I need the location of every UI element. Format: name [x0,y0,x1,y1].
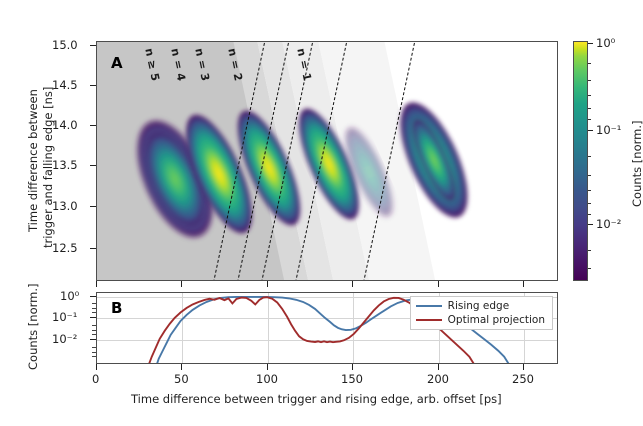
panel-a-ytick-5 [90,248,96,249]
panel-b-ytick-minor-6 [92,334,96,335]
panel-b-ytick-minor-3 [92,312,96,313]
panel-b-ytick-minor-9 [92,356,96,357]
colorbar-tick-minor-12 [588,268,591,269]
panel-b-legend: Rising edge Optimal projection [410,296,553,330]
colorbar-tick-1e-1 [588,130,593,131]
panel-a-ytick-label-13-0: 13.0 [52,199,78,213]
panel-b-xtick-label-50: 50 [174,372,189,386]
panel-b-xtick-150 [352,364,353,370]
legend-item-rising-edge: Rising edge [416,300,545,312]
panel-b-letter: B [111,299,122,317]
colorbar-tick-1e0 [588,43,593,44]
panel-a-ytick-label-13-5: 13.5 [52,158,78,172]
colorbar-tick-minor-6 [588,156,591,157]
panel-b-xtick-label-100: 100 [256,372,278,386]
panel-b-xtick-200 [438,364,439,370]
panel-a-ytick-1 [90,85,96,86]
colorbar-tick-minor-4 [588,108,591,109]
panel-b-xtick-label-250: 250 [512,372,534,386]
panel-a-ytick-4 [90,206,96,207]
panel-a-xtick-0 [96,281,97,287]
panel-a-heatmap [97,42,558,281]
panel-b-ytick-minor-2 [92,308,96,309]
colorbar-tick-minor-11 [588,250,591,251]
colorbar-tick-label-1e-2: 10⁻² [596,217,621,231]
colorbar-tick-minor-5 [588,119,591,120]
colorbar-tick-minor-9 [588,203,591,204]
panel-a-xtick-150 [352,281,353,287]
panel-b-ytick-1e-1 [90,317,96,318]
legend-swatch-optimal-projection [416,319,442,321]
colorbar-tick-1e-2 [588,224,593,225]
panel-b-xtick-label-0: 0 [92,372,99,386]
cluster-n-1 [387,94,481,227]
panel-a-ytick-label-12-5: 12.5 [52,241,78,255]
panel-b-ytick-label-1e-2: 10⁻² [52,332,77,346]
panel-a-ytick-3 [90,165,96,166]
panel-a-plot-area: n ≥ 5 n = 4 n = 3 n = 2 n = 1 A [96,41,558,281]
panel-a-ytick-label-14-0: 14.0 [52,118,78,132]
panel-b-xtick-0 [96,364,97,370]
panel-a-xtick-100 [267,281,268,287]
colorbar-tick-label-1e0: 10⁰ [596,36,615,50]
panel-a-letter: A [111,54,123,72]
panel-a-xtick-200 [438,281,439,287]
panel-a-ytick-0 [90,45,96,46]
legend-swatch-rising-edge [416,305,442,307]
colorbar-tick-minor-10 [588,214,591,215]
panel-b-ytick-1e-2 [90,339,96,340]
panel-a-ytick-2 [90,125,96,126]
panel-b-xtick-label-150: 150 [341,372,363,386]
panel-b-ylabel: Counts [norm.] [26,284,40,370]
panel-a-xtick-50 [181,281,182,287]
panel-b-ytick-minor-5 [92,330,96,331]
panel-b-ytick-minor-7 [92,347,96,348]
colorbar-tick-minor-2 [588,80,591,81]
colorbar-tick-minor-7 [588,175,591,176]
panel-a-ylabel-line2: trigger and falling edge [ns] [41,87,55,248]
panel-b-ytick-label-1e-1: 10⁻¹ [52,310,77,324]
panel-b-ytick-label-1e0: 10⁰ [60,289,79,303]
colorbar-tick-minor-1 [588,63,591,64]
panel-a-ytick-label-15-0: 15.0 [52,38,78,52]
panel-b-xtick-label-200: 200 [427,372,449,386]
legend-label-optimal-projection: Optimal projection [448,314,545,326]
panel-b-xtick-50 [181,364,182,370]
legend-label-rising-edge: Rising edge [448,300,510,312]
panel-a-xtick-250 [523,281,524,287]
panel-b-xtick-250 [523,364,524,370]
legend-item-optimal-projection: Optimal projection [416,314,545,326]
panel-b-ytick-1e0 [90,296,96,297]
panel-b-plot-area: B Rising edge Optimal projection [96,292,558,364]
panel-b-xtick-100 [267,364,268,370]
panel-b-ytick-minor-1 [92,303,96,304]
colorbar-label: Counts [norm.] [630,121,643,207]
colorbar-tick-minor-3 [588,95,591,96]
panel-b-xlabel: Time difference between trigger and risi… [131,392,502,406]
panel-a-ylabel-line1: Time difference between [26,89,40,232]
panel-a-ytick-label-14-5: 14.5 [52,78,78,92]
figure-root: n ≥ 5 n = 4 n = 3 n = 2 n = 1 A 15.0 14.… [0,0,643,426]
panel-b-ytick-minor-4 [92,325,96,326]
colorbar-tick-label-1e-1: 10⁻¹ [596,123,621,137]
colorbar-tick-minor-8 [588,190,591,191]
colorbar [573,41,588,281]
panel-b-ytick-minor-8 [92,352,96,353]
